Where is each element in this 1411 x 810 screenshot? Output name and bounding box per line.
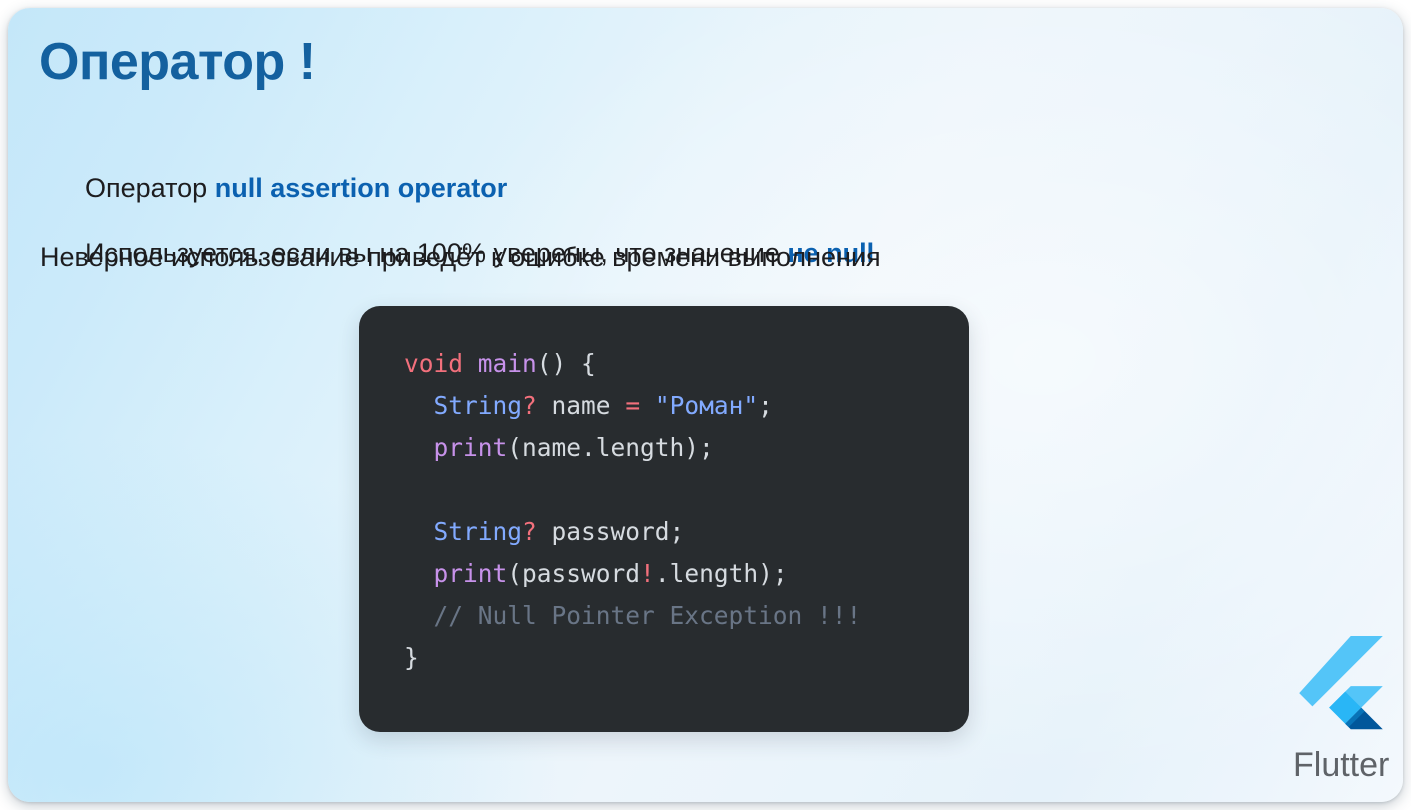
code-token: [404, 559, 434, 588]
code-token: !: [640, 559, 655, 588]
code-token: name: [537, 391, 626, 420]
code-line: // Null Pointer Exception !!!: [404, 595, 861, 637]
code-token: String: [434, 517, 523, 546]
code-token: ;: [758, 391, 773, 420]
code-token: main: [478, 349, 537, 378]
code-token: ?: [522, 517, 537, 546]
flutter-logo-icon: [1295, 636, 1387, 740]
code-token: () {: [537, 349, 596, 378]
code-line: String? password;: [404, 511, 861, 553]
code-token: [463, 349, 478, 378]
code-block: void main() { String? name = "Роман"; pr…: [404, 343, 861, 679]
code-token: =: [625, 391, 640, 420]
code-token: (name.length);: [507, 433, 714, 462]
code-token: // Null Pointer Exception !!!: [434, 601, 862, 630]
subtitle-accent-text: null assertion operator: [215, 173, 508, 203]
code-line: String? name = "Роман";: [404, 385, 861, 427]
code-token: "Роман": [655, 391, 758, 420]
page-title: Оператор !: [39, 34, 316, 91]
code-token: [404, 391, 434, 420]
code-line: }: [404, 637, 861, 679]
code-card: void main() { String? name = "Роман"; pr…: [359, 306, 969, 732]
code-line: void main() {: [404, 343, 861, 385]
code-token: print: [434, 433, 508, 462]
code-token: ?: [522, 391, 537, 420]
code-token: [404, 517, 434, 546]
code-token: [404, 433, 434, 462]
code-line: print(password!.length);: [404, 553, 861, 595]
code-line: print(name.length);: [404, 427, 861, 469]
body-line-2: Неверное использование приведёт к ошибке…: [40, 240, 881, 275]
subtitle-plain-text: Оператор: [85, 173, 215, 203]
code-token: .length);: [655, 559, 788, 588]
code-token: [404, 601, 434, 630]
code-token: void: [404, 349, 463, 378]
code-token: }: [404, 643, 419, 672]
slide-canvas: Оператор ! Оператор null assertion opera…: [8, 8, 1403, 802]
code-token: String: [434, 391, 523, 420]
code-line: [404, 469, 861, 511]
code-token: [640, 391, 655, 420]
code-token: password;: [537, 517, 685, 546]
code-token: print: [434, 559, 508, 588]
flutter-wordmark: Flutter: [1293, 746, 1389, 785]
code-token: (password: [507, 559, 640, 588]
